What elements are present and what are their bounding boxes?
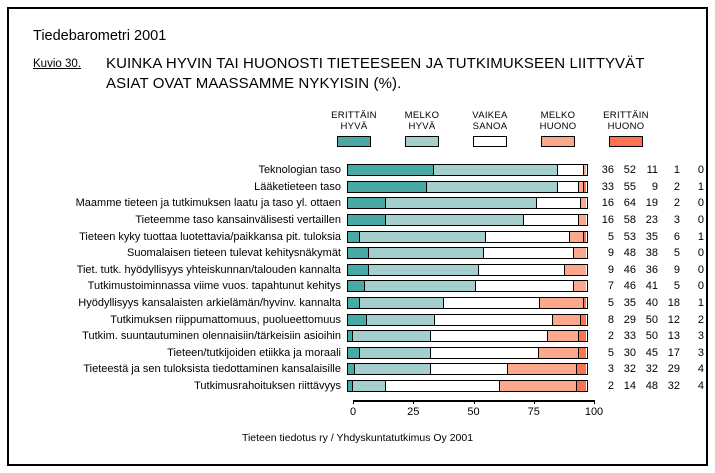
chart-value: 3 bbox=[682, 347, 706, 359]
chart-page: Tiedebarometri 2001 Kuvio 30. KUINKA HYV… bbox=[0, 0, 715, 473]
chart-value: 17 bbox=[660, 347, 682, 359]
bar-segment bbox=[348, 364, 355, 374]
chart-value: 35 bbox=[616, 297, 638, 309]
chart-value: 1 bbox=[682, 231, 706, 243]
chart-row-label: Maamme tieteen ja tutkimuksen laatu ja t… bbox=[0, 197, 347, 209]
stacked-bar bbox=[347, 214, 588, 226]
bar-segment bbox=[574, 248, 586, 258]
legend-item: ERITTÄIN HUONO bbox=[592, 110, 660, 147]
bar-segment bbox=[584, 232, 586, 242]
figure-title-line-1: KUINKA HYVIN TAI HUONOSTI TIETEESEEN JA … bbox=[106, 54, 645, 74]
chart-value: 16 bbox=[594, 197, 616, 209]
x-axis-tick bbox=[353, 400, 354, 404]
stacked-bar bbox=[347, 363, 588, 375]
chart-value: 0 bbox=[682, 214, 706, 226]
chart-row: Tieteen kyky tuottaa luotettavia/paikkan… bbox=[0, 228, 715, 245]
bar-segment bbox=[548, 331, 579, 341]
chart-value: 0 bbox=[682, 280, 706, 292]
bar-segment bbox=[360, 348, 431, 358]
bar-segment bbox=[577, 381, 587, 391]
bar-segment bbox=[476, 281, 575, 291]
chart-row: Tutkim. suuntautuminen olennaisiin/tärke… bbox=[0, 328, 715, 345]
bar-segment bbox=[579, 331, 586, 341]
chart-value: 18 bbox=[660, 297, 682, 309]
chart-value: 46 bbox=[616, 280, 638, 292]
chart-row-values: 82950122 bbox=[594, 314, 706, 326]
document-title: Tiedebarometri 2001 bbox=[33, 28, 166, 44]
chart-value: 36 bbox=[594, 164, 616, 176]
bar-segment bbox=[524, 215, 579, 225]
chart-row-values: 53045173 bbox=[594, 347, 706, 359]
stacked-bar bbox=[347, 297, 588, 309]
chart-value: 64 bbox=[616, 197, 638, 209]
chart-value: 1 bbox=[682, 181, 706, 193]
chart-row: Lääketieteen taso3355921 bbox=[0, 179, 715, 196]
bar-segment bbox=[539, 348, 579, 358]
bar-segment bbox=[386, 381, 500, 391]
bar-segment bbox=[431, 348, 538, 358]
chart-value: 19 bbox=[638, 197, 660, 209]
chart-value: 13 bbox=[660, 330, 682, 342]
legend-color-swatch bbox=[541, 136, 575, 147]
chart-value: 3 bbox=[594, 363, 616, 375]
chart-value: 0 bbox=[682, 197, 706, 209]
x-axis-tick-label: 0 bbox=[350, 406, 356, 418]
chart-value: 14 bbox=[616, 380, 638, 392]
chart-value: 2 bbox=[594, 330, 616, 342]
legend-item: MELKO HYVÄ bbox=[388, 110, 456, 147]
bar-segment bbox=[570, 232, 584, 242]
chart-value: 9 bbox=[638, 181, 660, 193]
chart-row-label: Tieteen/tutkijoiden etiikka ja moraali bbox=[0, 347, 347, 359]
chart-value: 9 bbox=[660, 264, 682, 276]
chart-row-values: 36521110 bbox=[594, 164, 706, 176]
bar-segment bbox=[479, 265, 565, 275]
bar-segment bbox=[581, 198, 586, 208]
chart-row: Tutkimuksen riippumattomuus, puolueettom… bbox=[0, 311, 715, 328]
bar-segment bbox=[579, 348, 586, 358]
chart-value: 45 bbox=[638, 347, 660, 359]
chart-value: 32 bbox=[616, 363, 638, 375]
x-axis-tick bbox=[534, 400, 535, 404]
legend-item-label: ERITTÄIN HUONO bbox=[603, 110, 649, 132]
chart-value: 48 bbox=[638, 380, 660, 392]
chart-value: 2 bbox=[682, 314, 706, 326]
bar-segment bbox=[386, 198, 537, 208]
chart-value: 50 bbox=[638, 314, 660, 326]
bar-segment bbox=[365, 281, 476, 291]
chart-value: 5 bbox=[594, 347, 616, 359]
chart-value: 1 bbox=[660, 164, 682, 176]
chart-row-values: 7464150 bbox=[594, 280, 706, 292]
chart-row-label: Suomalaisen tieteen tulevat kehitysnäkym… bbox=[0, 247, 347, 259]
x-axis-tick-label: 100 bbox=[585, 406, 603, 418]
stacked-bar bbox=[347, 314, 588, 326]
chart-value: 55 bbox=[616, 181, 638, 193]
bar-segment bbox=[360, 232, 486, 242]
chart-value: 0 bbox=[682, 164, 706, 176]
bar-segment bbox=[348, 165, 434, 175]
x-axis-tick bbox=[594, 400, 595, 404]
bar-segment bbox=[348, 281, 365, 291]
legend-item: ERITTÄIN HYVÄ bbox=[320, 110, 388, 147]
chart-row: Tieteestä ja sen tuloksista tiedottamine… bbox=[0, 361, 715, 378]
chart-value: 7 bbox=[594, 280, 616, 292]
chart-value: 30 bbox=[616, 347, 638, 359]
bar-segment bbox=[540, 298, 583, 308]
bar-segment bbox=[367, 315, 435, 325]
source-text: Tieteen tiedotus ry / Yhdyskuntatutkimus… bbox=[242, 432, 473, 444]
chart-value: 4 bbox=[682, 363, 706, 375]
chart-value: 2 bbox=[594, 380, 616, 392]
chart-row-label: Tieteen kyky tuottaa luotettavia/paikkan… bbox=[0, 231, 347, 243]
chart-value: 52 bbox=[616, 164, 638, 176]
legend-color-swatch bbox=[337, 136, 371, 147]
bar-segment bbox=[386, 215, 524, 225]
stacked-bar bbox=[347, 330, 588, 342]
chart-row: Suomalaisen tieteen tulevat kehitysnäkym… bbox=[0, 245, 715, 262]
bar-segment bbox=[444, 298, 540, 308]
chart-value: 32 bbox=[660, 380, 682, 392]
stacked-bar bbox=[347, 181, 588, 193]
chart-value: 33 bbox=[616, 330, 638, 342]
x-axis-tick-label: 75 bbox=[528, 406, 540, 418]
chart-value: 9 bbox=[594, 264, 616, 276]
chart-value: 38 bbox=[638, 247, 660, 259]
stacked-bar bbox=[347, 380, 588, 392]
stacked-bar bbox=[347, 347, 588, 359]
chart-value: 2 bbox=[660, 197, 682, 209]
chart-value: 53 bbox=[616, 231, 638, 243]
bar-segment bbox=[348, 348, 360, 358]
chart-row-label: Tutkimustoiminnassa viime vuos. tapahtun… bbox=[0, 280, 347, 292]
chart-row: Tutkimustoiminnassa viime vuos. tapahtun… bbox=[0, 278, 715, 295]
chart-row: Teknologian taso36521110 bbox=[0, 162, 715, 179]
figure-title: KUINKA HYVIN TAI HUONOSTI TIETEESEEN JA … bbox=[106, 54, 645, 94]
chart-row: Tiet. tutk. hyödyllisyys yhteiskunnan/ta… bbox=[0, 262, 715, 279]
chart-value: 29 bbox=[660, 363, 682, 375]
bar-segment bbox=[369, 265, 479, 275]
bar-segment bbox=[353, 381, 386, 391]
chart-value: 46 bbox=[616, 264, 638, 276]
bar-segment bbox=[558, 182, 579, 192]
chart-value: 6 bbox=[660, 231, 682, 243]
figure-number: Kuvio 30. bbox=[33, 58, 81, 70]
chart-legend: ERITTÄIN HYVÄMELKO HYVÄVAIKEA SANOAMELKO… bbox=[320, 110, 660, 158]
bar-segment bbox=[348, 315, 367, 325]
chart-row-label: Teknologian taso bbox=[0, 164, 347, 176]
chart-row-values: 33232294 bbox=[594, 363, 706, 375]
chart-row-label: Tiet. tutk. hyödyllisyys yhteiskunnan/ta… bbox=[0, 264, 347, 276]
x-axis: 0255075100 bbox=[347, 400, 595, 424]
chart-value: 36 bbox=[638, 264, 660, 276]
bar-segment bbox=[353, 331, 431, 341]
bar-segment bbox=[508, 364, 577, 374]
bar-segment bbox=[427, 182, 558, 192]
bar-segment bbox=[581, 315, 586, 325]
chart-row: Maamme tieteen ja tutkimuksen laatu ja t… bbox=[0, 195, 715, 212]
chart-value: 5 bbox=[660, 247, 682, 259]
chart-row-values: 53540181 bbox=[594, 297, 706, 309]
chart-value: 3 bbox=[660, 214, 682, 226]
bar-segment bbox=[565, 265, 586, 275]
chart-value: 5 bbox=[594, 231, 616, 243]
chart-value: 0 bbox=[682, 247, 706, 259]
chart-plot-area: Teknologian taso36521110Lääketieteen tas… bbox=[0, 162, 715, 402]
chart-row-values: 21448324 bbox=[594, 380, 706, 392]
bar-segment bbox=[360, 298, 444, 308]
chart-row: Tieteen/tutkijoiden etiikka ja moraali53… bbox=[0, 345, 715, 362]
bar-segment bbox=[484, 248, 575, 258]
bar-segment bbox=[431, 331, 549, 341]
stacked-bar bbox=[347, 280, 588, 292]
bar-segment bbox=[369, 248, 483, 258]
legend-color-swatch bbox=[405, 136, 439, 147]
chart-row-label: Tutkimuksen riippumattomuus, puolueettom… bbox=[0, 314, 347, 326]
chart-value: 0 bbox=[682, 264, 706, 276]
bar-segment bbox=[500, 381, 576, 391]
bar-segment bbox=[486, 232, 569, 242]
chart-value: 29 bbox=[616, 314, 638, 326]
bar-segment bbox=[584, 165, 586, 175]
figure-title-line-2: ASIAT OVAT MAASSAMME NYKYISIN (%). bbox=[106, 74, 645, 94]
chart-value: 41 bbox=[638, 280, 660, 292]
bar-segment bbox=[348, 232, 360, 242]
bar-segment bbox=[434, 165, 558, 175]
stacked-bar bbox=[347, 231, 588, 243]
chart-row: Tieteemme taso kansainvälisesti vertaill… bbox=[0, 212, 715, 229]
stacked-bar bbox=[347, 197, 588, 209]
chart-value: 48 bbox=[616, 247, 638, 259]
chart-value: 1 bbox=[682, 297, 706, 309]
x-axis-tick bbox=[413, 400, 414, 404]
bar-segment bbox=[348, 198, 386, 208]
legend-item-label: MELKO HUONO bbox=[540, 110, 577, 132]
chart-value: 32 bbox=[638, 363, 660, 375]
chart-row: Hyödyllisyys kansalaisten arkielämän/hyv… bbox=[0, 295, 715, 312]
chart-row-values: 5533561 bbox=[594, 231, 706, 243]
chart-row-values: 9483850 bbox=[594, 247, 706, 259]
bar-segment bbox=[584, 298, 586, 308]
chart-value: 16 bbox=[594, 214, 616, 226]
x-axis-tick-label: 25 bbox=[407, 406, 419, 418]
legend-item: MELKO HUONO bbox=[524, 110, 592, 147]
chart-footer: Tieteen tiedotus ry / Yhdyskuntatutkimus… bbox=[0, 432, 715, 444]
chart-row-values: 16582330 bbox=[594, 214, 706, 226]
chart-row: Tutkimusrahoituksen riittävyys21448324 bbox=[0, 378, 715, 395]
chart-value: 50 bbox=[638, 330, 660, 342]
chart-row-values: 16641920 bbox=[594, 197, 706, 209]
legend-item: VAIKEA SANOA bbox=[456, 110, 524, 147]
x-axis-tick-label: 50 bbox=[467, 406, 479, 418]
bar-segment bbox=[435, 315, 553, 325]
x-axis-tick bbox=[474, 400, 475, 404]
bar-segment bbox=[537, 198, 582, 208]
legend-color-swatch bbox=[473, 136, 507, 147]
bar-segment bbox=[348, 265, 369, 275]
chart-row-values: 9463690 bbox=[594, 264, 706, 276]
chart-value: 4 bbox=[682, 380, 706, 392]
bar-segment bbox=[348, 215, 386, 225]
chart-value: 33 bbox=[594, 181, 616, 193]
chart-value: 58 bbox=[616, 214, 638, 226]
legend-item-label: ERITTÄIN HYVÄ bbox=[331, 110, 377, 132]
chart-value: 12 bbox=[660, 314, 682, 326]
bar-segment bbox=[574, 281, 586, 291]
chart-value: 11 bbox=[638, 164, 660, 176]
chart-value: 5 bbox=[594, 297, 616, 309]
chart-row-label: Hyödyllisyys kansalaisten arkielämän/hyv… bbox=[0, 297, 347, 309]
chart-row-label: Tutkimusrahoituksen riittävyys bbox=[0, 380, 347, 392]
chart-row-label: Lääketieteen taso bbox=[0, 181, 347, 193]
bar-segment bbox=[553, 315, 581, 325]
chart-value: 35 bbox=[638, 231, 660, 243]
chart-row-label: Tieteemme taso kansainvälisesti vertaill… bbox=[0, 214, 347, 226]
bar-segment bbox=[558, 165, 584, 175]
stacked-bar bbox=[347, 247, 588, 259]
bar-segment bbox=[579, 215, 586, 225]
legend-color-swatch bbox=[609, 136, 643, 147]
chart-value: 40 bbox=[638, 297, 660, 309]
bar-segment bbox=[584, 182, 586, 192]
chart-value: 3 bbox=[682, 330, 706, 342]
chart-row-label: Tieteestä ja sen tuloksista tiedottamine… bbox=[0, 363, 347, 375]
bar-segment bbox=[577, 364, 587, 374]
chart-value: 2 bbox=[660, 181, 682, 193]
bar-segment bbox=[348, 248, 369, 258]
legend-item-label: MELKO HYVÄ bbox=[405, 110, 440, 132]
bar-segment bbox=[348, 298, 360, 308]
chart-value: 8 bbox=[594, 314, 616, 326]
legend-item-label: VAIKEA SANOA bbox=[472, 110, 507, 132]
bar-segment bbox=[348, 182, 427, 192]
chart-row-values: 3355921 bbox=[594, 181, 706, 193]
chart-value: 23 bbox=[638, 214, 660, 226]
chart-value: 9 bbox=[594, 247, 616, 259]
chart-row-values: 23350133 bbox=[594, 330, 706, 342]
bar-segment bbox=[355, 364, 431, 374]
chart-row-label: Tutkim. suuntautuminen olennaisiin/tärke… bbox=[0, 330, 347, 342]
chart-value: 5 bbox=[660, 280, 682, 292]
bar-segment bbox=[431, 364, 507, 374]
stacked-bar bbox=[347, 264, 588, 276]
stacked-bar bbox=[347, 164, 588, 176]
